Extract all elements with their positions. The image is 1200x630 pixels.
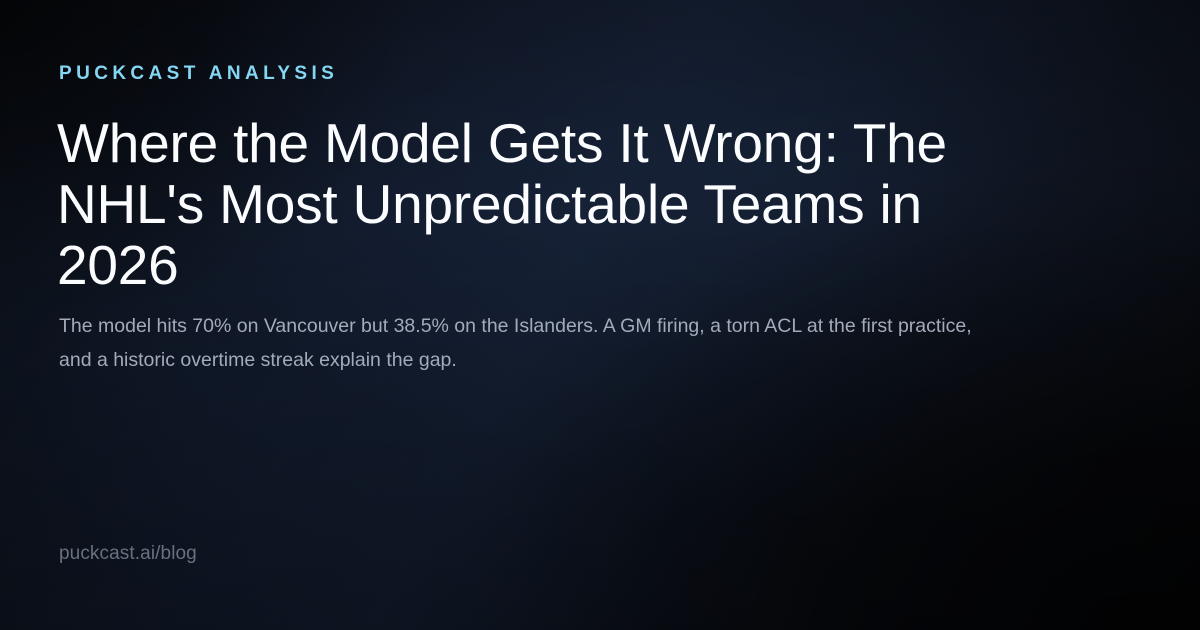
subtitle-text: The model hits 70% on Vancouver but 38.5… — [59, 309, 989, 377]
card-content: PUCKCAST ANALYSIS Where the Model Gets I… — [59, 0, 1141, 630]
footer-url: puckcast.ai/blog — [59, 543, 197, 565]
eyebrow-label: PUCKCAST ANALYSIS — [59, 63, 338, 85]
og-share-card: PUCKCAST ANALYSIS Where the Model Gets I… — [0, 0, 1200, 630]
page-title: Where the Model Gets It Wrong: The NHL's… — [57, 113, 997, 296]
